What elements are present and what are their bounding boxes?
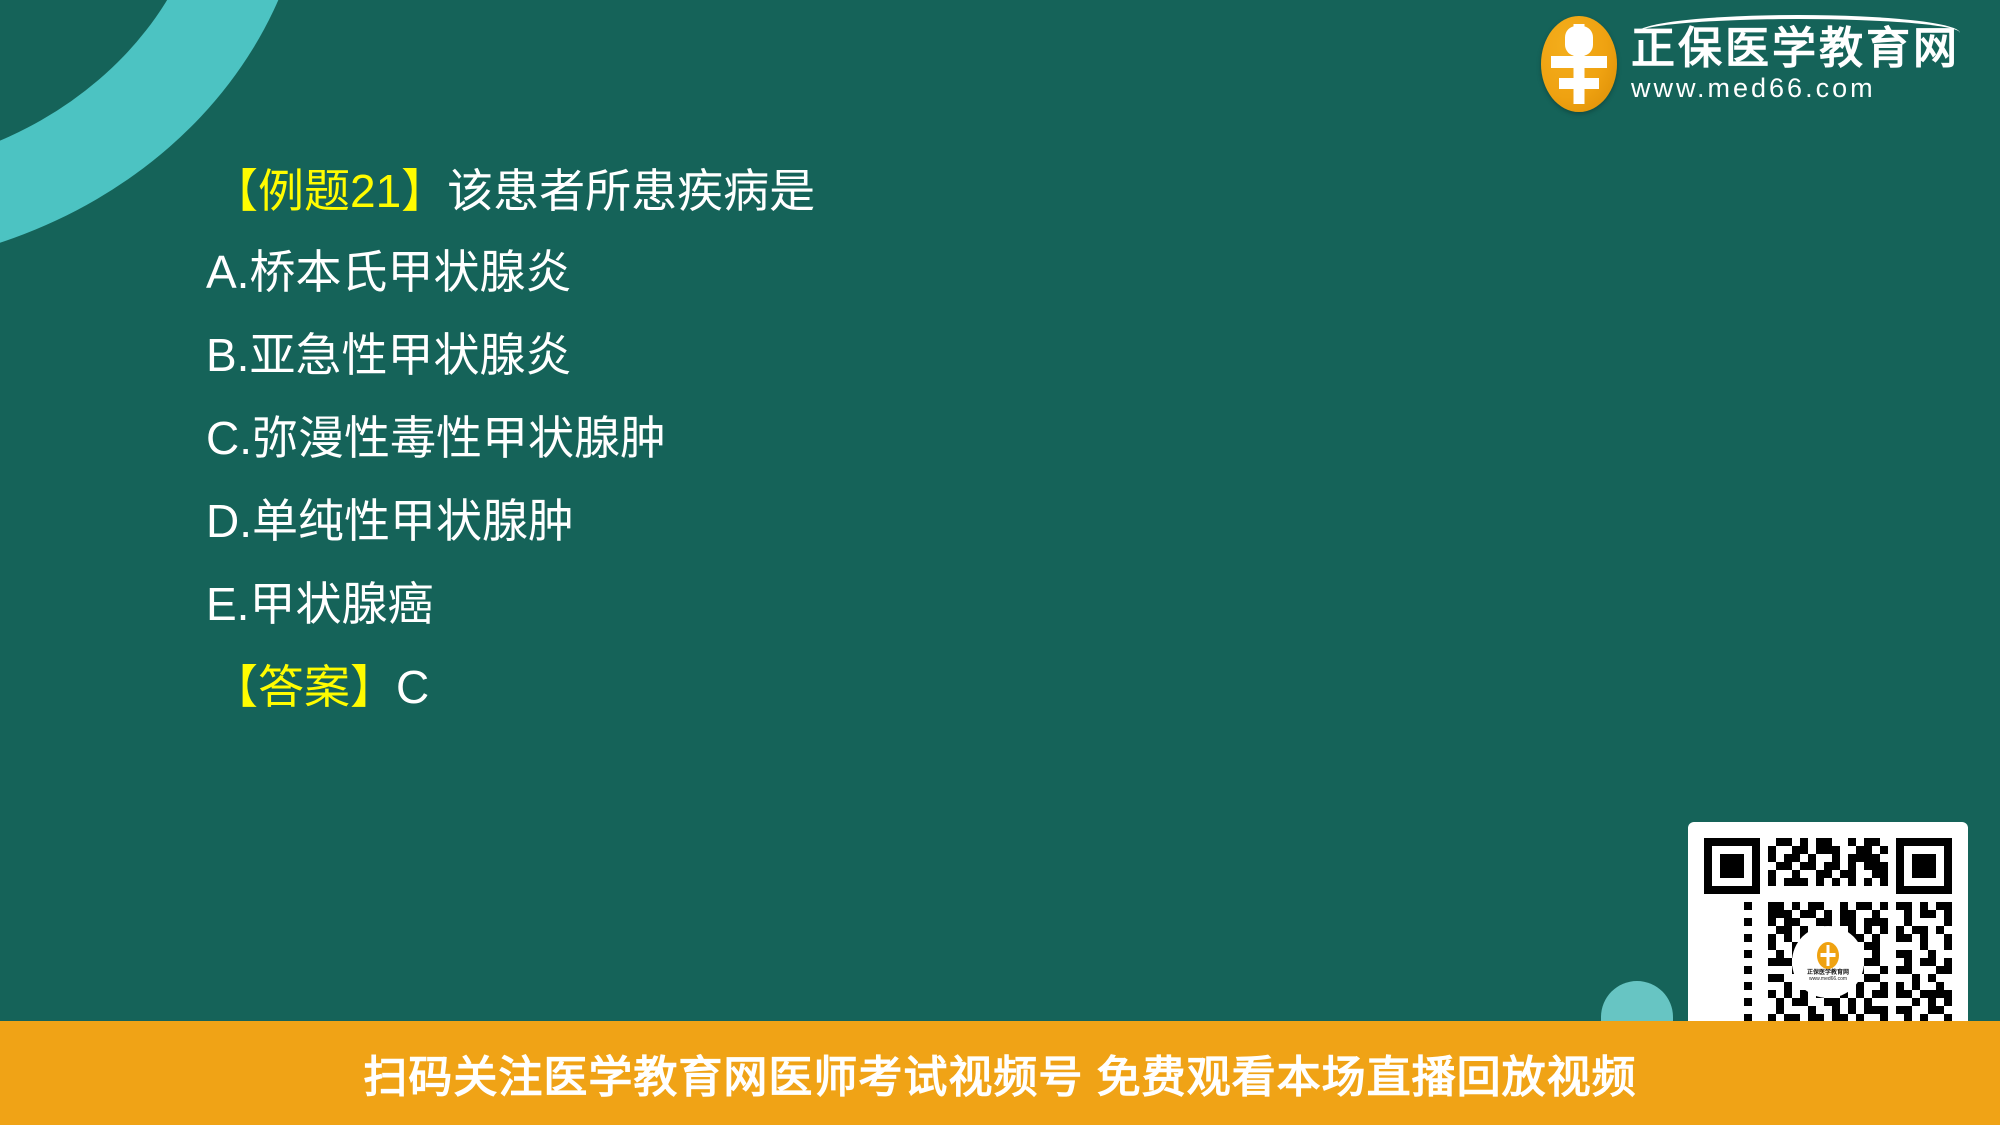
question-block: 【例题21】该患者所患疾病是 A.桥本氏甲状腺炎 B.亚急性甲状腺炎 C.弥漫性… bbox=[212, 168, 1512, 710]
option-d[interactable]: D.单纯性甲状腺肿 bbox=[206, 498, 1512, 544]
question-stem: 该患者所患疾病是 bbox=[447, 165, 815, 217]
answer-value: C bbox=[396, 661, 429, 713]
option-e-text: 甲状腺癌 bbox=[249, 578, 433, 630]
qr-center-brand-cn: 正保医学教育网 bbox=[1807, 970, 1849, 977]
option-c-key: C. bbox=[206, 412, 252, 464]
logo-cross-horizontal bbox=[1551, 56, 1607, 68]
slide-canvas: 正保医学教育网 www.med66.com 【例题21】该患者所患疾病是 A.桥… bbox=[0, 0, 2000, 1125]
logo-cross-foot bbox=[1559, 78, 1599, 89]
option-b-key: B. bbox=[206, 329, 249, 381]
question-title: 【例题21】该患者所患疾病是 bbox=[212, 168, 1512, 214]
option-e[interactable]: E.甲状腺癌 bbox=[206, 581, 1512, 627]
option-c[interactable]: C.弥漫性毒性甲状腺肿 bbox=[206, 415, 1512, 461]
qr-center-brand-url: www.med66.com bbox=[1809, 976, 1847, 982]
option-c-text: 弥漫性毒性甲状腺肿 bbox=[252, 412, 666, 464]
question-tag: 【例题21】 bbox=[212, 165, 447, 217]
teal-semicircle-decoration bbox=[1601, 981, 1673, 1021]
qr-center-logo: 正保医学教育网 www.med66.com bbox=[1794, 928, 1862, 996]
brand-logo-text: 正保医学教育网 www.med66.com bbox=[1631, 27, 1960, 102]
option-d-text: 单纯性甲状腺肿 bbox=[252, 495, 574, 547]
bottom-banner: 扫码关注医学教育网医师考试视频号 免费观看本场直播回放视频 bbox=[0, 1021, 2000, 1125]
med66-cross-logo-icon bbox=[1541, 16, 1617, 112]
option-d-key: D. bbox=[206, 495, 252, 547]
brand-name-cn: 正保医学教育网 bbox=[1631, 27, 1960, 71]
option-b[interactable]: B.亚急性甲状腺炎 bbox=[206, 332, 1512, 378]
option-e-key: E. bbox=[206, 578, 249, 630]
answer-line: 【答案】C bbox=[212, 664, 1512, 710]
option-a-key: A. bbox=[206, 246, 249, 298]
brand-url: www.med66.com bbox=[1631, 75, 1960, 102]
option-a-text: 桥本氏甲状腺炎 bbox=[249, 246, 571, 298]
answer-label: 【答案】 bbox=[212, 661, 396, 713]
bottom-banner-text: 扫码关注医学教育网医师考试视频号 免费观看本场直播回放视频 bbox=[363, 1041, 1636, 1105]
qr-center-cross-icon bbox=[1817, 942, 1839, 969]
option-b-text: 亚急性甲状腺炎 bbox=[249, 329, 571, 381]
brand-logo: 正保医学教育网 www.med66.com bbox=[1541, 16, 1960, 112]
option-a[interactable]: A.桥本氏甲状腺炎 bbox=[206, 249, 1512, 295]
